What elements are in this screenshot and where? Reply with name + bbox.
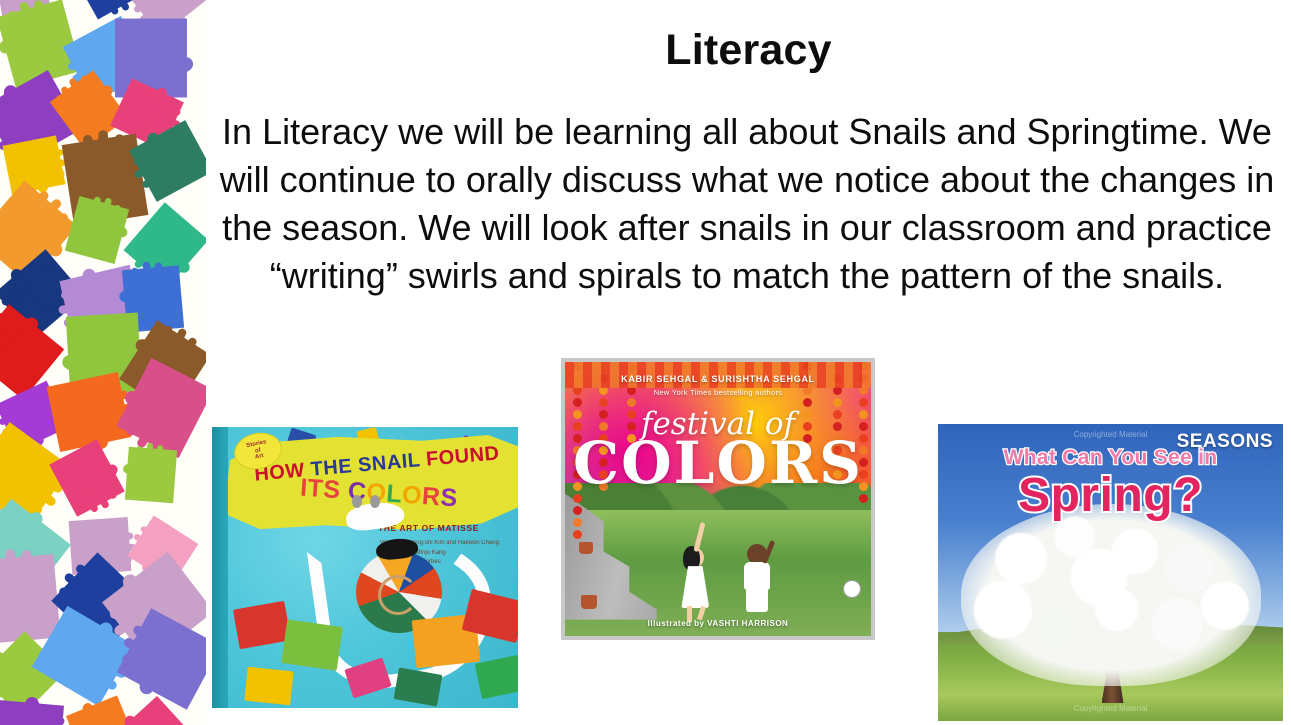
slide-canvas: Literacy In Literacy we will be learning… [0, 0, 1291, 725]
handprint-border-decoration [0, 0, 206, 725]
handprint-icon [3, 136, 66, 195]
handprint-icon [115, 19, 187, 98]
handprint-icon [0, 699, 64, 725]
book-title-line-1: What Can You See in [938, 446, 1283, 470]
book-spine [212, 427, 228, 708]
book-front-cover: HOW THE SNAIL FOUND ITS COLORS Stories o… [228, 427, 518, 708]
handprint-icon [47, 372, 132, 452]
book-title-line-2: COLORS [565, 434, 871, 492]
book-authors: KABIR SEHGAL & SURISHTHA SEHGAL [565, 374, 871, 384]
book-illustrator: Illustrated by VASHTI HARRISON [565, 619, 871, 628]
badge-line-3: Art [254, 453, 264, 462]
handprint-icon [0, 554, 60, 644]
body-paragraph: In Literacy we will be learning all abou… [208, 108, 1286, 300]
book-cover-what-can-you-see-in-spring[interactable]: Copyrighted Material SEASONS What Can Yo… [938, 424, 1283, 721]
book-front-cover: KABIR SEHGAL & SURISHTHA SEHGAL New York… [565, 362, 871, 636]
page-title: Literacy [206, 26, 1291, 75]
snail-eye-right-icon [370, 495, 380, 508]
snail-eye-left-icon [352, 495, 362, 508]
handprint-icon [125, 447, 177, 504]
watermark-bottom: Copyrighted Material [938, 704, 1283, 713]
flower-pot-icon [579, 542, 593, 554]
book-title-line-2: Spring? [938, 468, 1283, 523]
flower-pot-icon [581, 595, 597, 609]
book-cover-festival-of-colors[interactable]: KABIR SEHGAL & SURISHTHA SEHGAL New York… [561, 358, 875, 640]
soccer-ball-icon [843, 580, 861, 598]
book-cover-how-the-snail-found-its-colors[interactable]: HOW THE SNAIL FOUND ITS COLORS Stories o… [212, 427, 518, 708]
blossom-tree-illustration [961, 504, 1261, 686]
book-authors-subtitle: New York Times bestselling authors [565, 388, 871, 397]
